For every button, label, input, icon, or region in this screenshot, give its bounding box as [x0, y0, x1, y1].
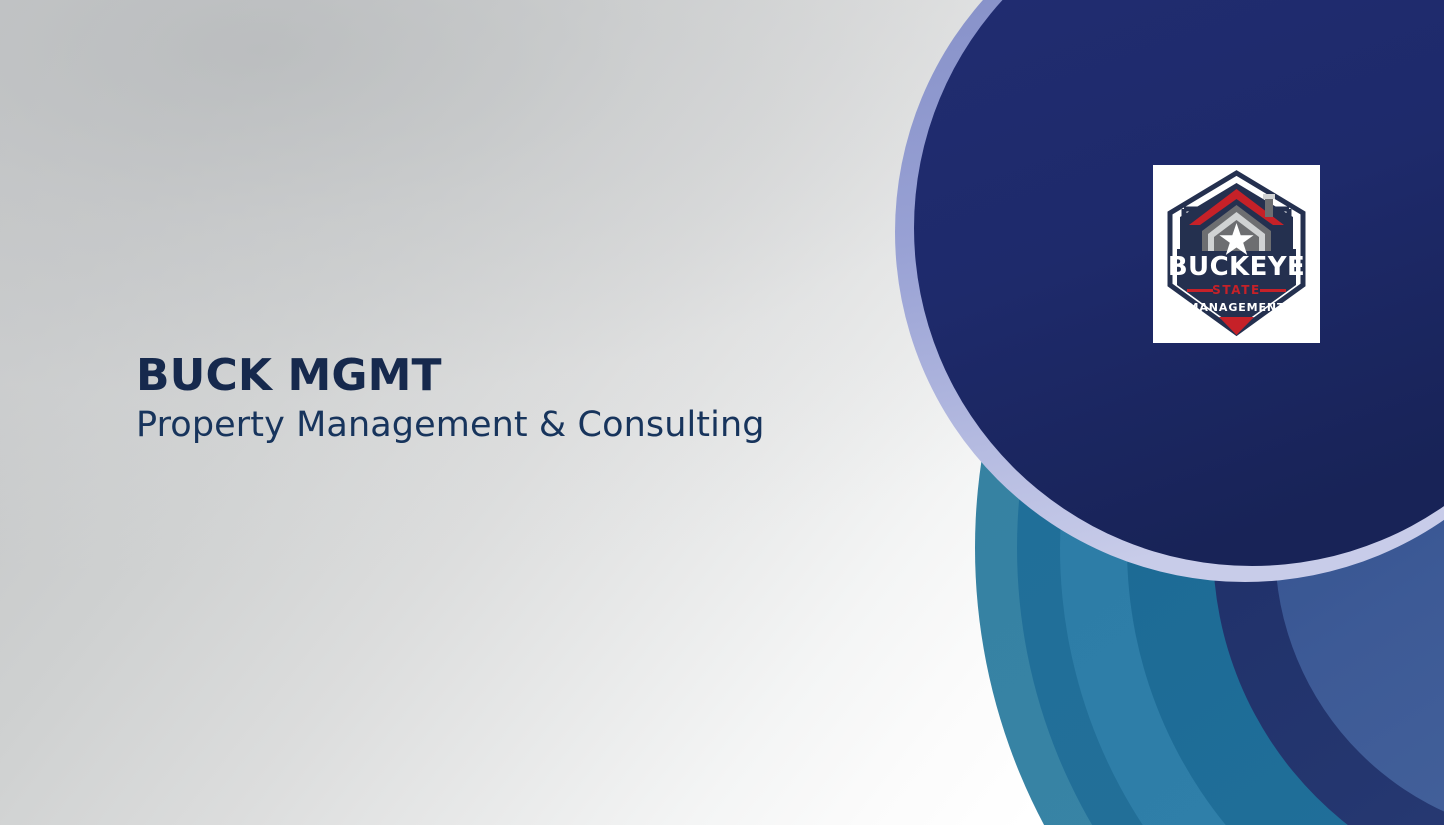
logo-rule-right [1260, 289, 1286, 292]
page-subtitle: Property Management & Consulting [136, 406, 856, 445]
logo-tertiary-text: MANAGEMENT [1188, 301, 1286, 314]
title-slide: BUCK MGMT Property Management & Consulti… [0, 0, 1444, 825]
title-block: BUCK MGMT Property Management & Consulti… [136, 353, 856, 446]
buckeye-state-management-logo-icon: BUCKEYE STATE MANAGEMENT [1153, 165, 1320, 343]
logo-primary-text: BUCKEYE [1168, 252, 1305, 282]
logo-chimney-cap [1263, 194, 1275, 199]
logo-secondary-text: STATE [1212, 283, 1261, 297]
logo-chimney [1265, 197, 1273, 217]
page-title: BUCK MGMT [136, 353, 856, 398]
logo-rule-left [1187, 289, 1213, 292]
logo-card: BUCKEYE STATE MANAGEMENT [1153, 165, 1320, 343]
